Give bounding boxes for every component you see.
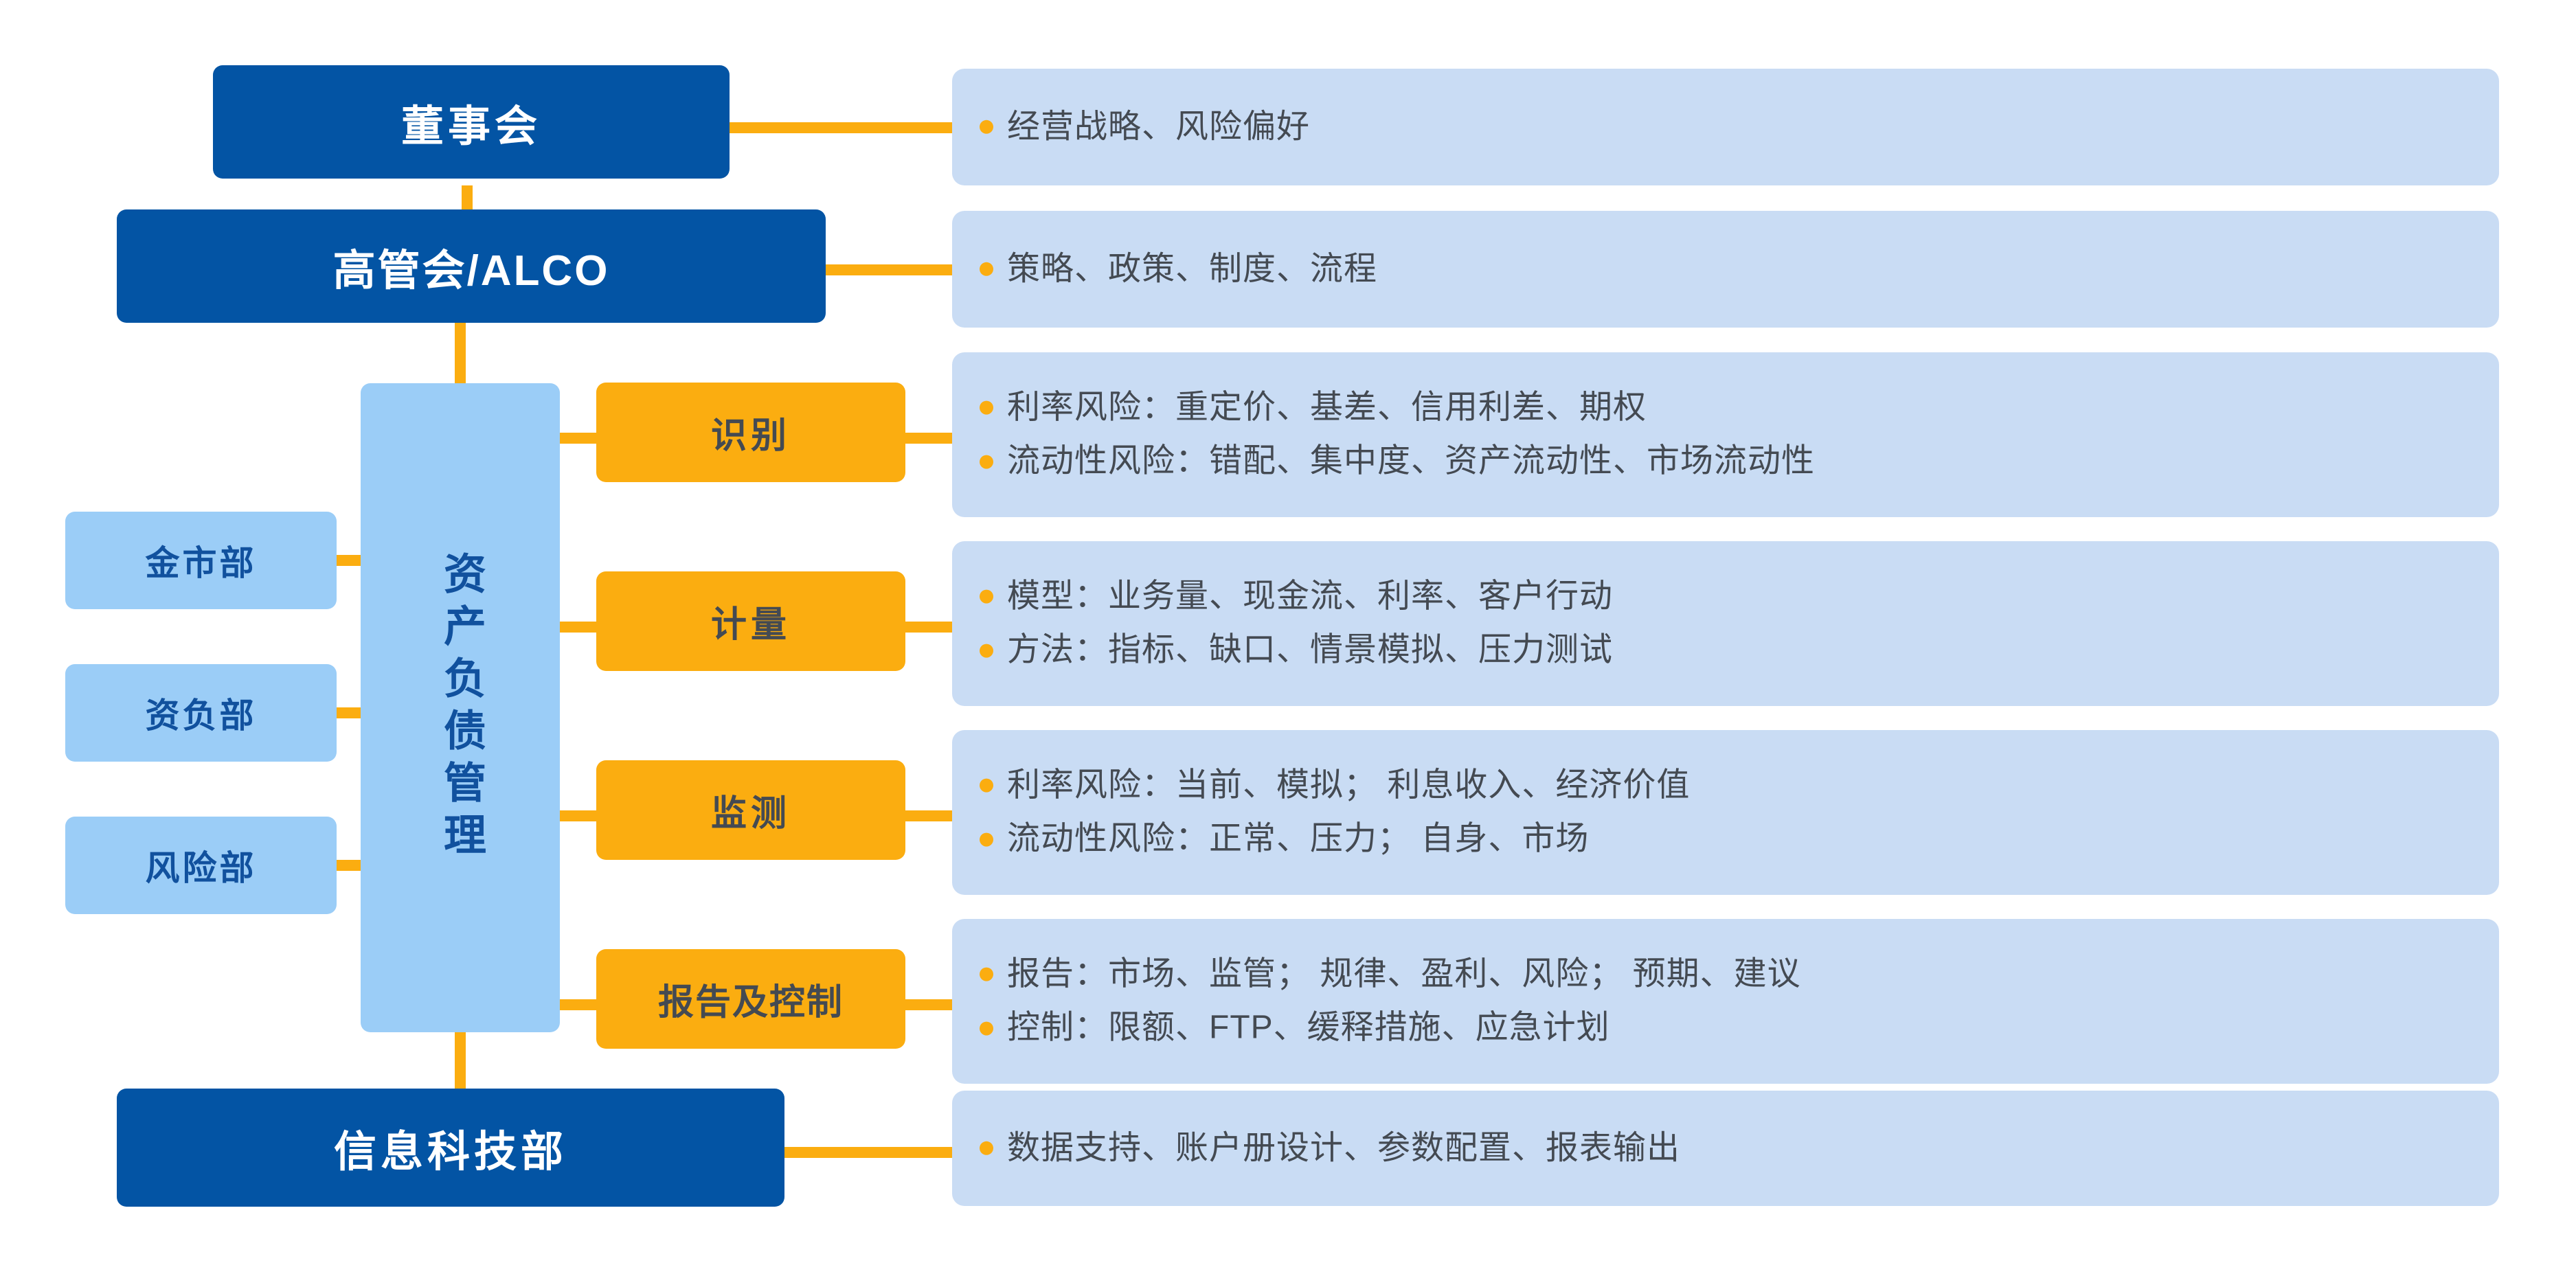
department-label-1: 资负部 <box>146 688 257 738</box>
bullet-text: 利率风险：当前、模拟； 利息收入、经济价值 <box>1007 764 1690 807</box>
connector-board-to-content <box>728 122 955 133</box>
connector-alco-to-center <box>455 323 466 391</box>
bullet-text: 方法：指标、缺口、情景模拟、压力测试 <box>1007 629 1613 672</box>
bullet-dot-icon <box>980 779 993 793</box>
bullet-item: 流动性风险：错配、集中度、资产流动性、市场流动性 <box>980 440 2483 483</box>
alm-center-box[interactable]: 资产负债管理 <box>361 383 560 1032</box>
bullet-dot-icon <box>980 262 993 276</box>
bullet-item: 数据支持、账户册设计、参数配置、报表输出 <box>980 1127 2483 1170</box>
department-box-1[interactable]: 资负部 <box>65 664 337 762</box>
bullet-text: 利率风险：重定价、基差、信用利差、期权 <box>1007 387 1647 429</box>
department-box-0[interactable]: 金市部 <box>65 512 337 609</box>
bullet-dot-icon <box>980 644 993 657</box>
content-box-monitor: 利率风险：当前、模拟； 利息收入、经济价值 流动性风险：正常、压力； 自身、市场 <box>952 730 2499 895</box>
bullet-dot-icon <box>980 832 993 846</box>
bullet-list-alco: 策略、政策、制度、流程 <box>980 248 2483 291</box>
department-label-2: 风险部 <box>146 841 257 890</box>
bullet-dot-icon <box>980 1141 993 1155</box>
it-department-label: 信息科技部 <box>334 1117 567 1179</box>
alm-center-label: 资产负债管理 <box>439 551 482 865</box>
connector-stage-1-to-content <box>901 622 956 633</box>
bullet-list-report-control: 报告：市场、监管； 规律、盈利、风险； 预期、建议 控制：限额、FTP、缓释措施… <box>980 953 2483 1050</box>
content-box-report-control: 报告：市场、监管； 规律、盈利、风险； 预期、建议 控制：限额、FTP、缓释措施… <box>952 919 2499 1084</box>
bullet-text: 数据支持、账户册设计、参数配置、报表输出 <box>1007 1127 1680 1170</box>
bullet-list-board: 经营战略、风险偏好 <box>980 106 2483 148</box>
bullet-item: 控制：限额、FTP、缓释措施、应急计划 <box>980 1007 2483 1049</box>
bullet-text: 经营战略、风险偏好 <box>1007 106 1310 148</box>
stage-label-2: 监测 <box>711 784 791 836</box>
stage-label-3: 报告及控制 <box>658 973 844 1025</box>
bullet-item: 策略、政策、制度、流程 <box>980 248 2483 291</box>
department-box-2[interactable]: 风险部 <box>65 817 337 914</box>
bullet-item: 流动性风险：正常、压力； 自身、市场 <box>980 818 2483 861</box>
bullet-dot-icon <box>980 590 993 604</box>
bullet-dot-icon <box>980 455 993 468</box>
bullet-text: 策略、政策、制度、流程 <box>1007 248 1377 291</box>
bullet-item: 方法：指标、缺口、情景模拟、压力测试 <box>980 629 2483 672</box>
alco-label: 高管会/ALCO <box>333 236 610 297</box>
content-box-alco: 策略、政策、制度、流程 <box>952 211 2499 328</box>
connector-stage-2-to-content <box>901 810 956 821</box>
bullet-text: 模型：业务量、现金流、利率、客户行动 <box>1007 576 1613 618</box>
board-box[interactable]: 董事会 <box>213 65 730 179</box>
connector-stage-3-to-content <box>901 999 956 1010</box>
diagram-canvas: 董事会 高管会/ALCO 信息科技部 资产负债管理 金市部 资负部 风险部 识别… <box>0 0 2576 1263</box>
bullet-dot-icon <box>980 120 993 134</box>
bullet-item: 报告：市场、监管； 规律、盈利、风险； 预期、建议 <box>980 953 2483 996</box>
bullet-text: 流动性风险：正常、压力； 自身、市场 <box>1007 818 1589 861</box>
bullet-dot-icon <box>980 968 993 981</box>
bullet-text: 报告：市场、监管； 规律、盈利、风险； 预期、建议 <box>1007 953 1801 996</box>
connector-alco-to-content <box>824 264 955 275</box>
board-label: 董事会 <box>401 91 541 153</box>
bullet-item: 利率风险：当前、模拟； 利息收入、经济价值 <box>980 764 2483 807</box>
stage-box-2[interactable]: 监测 <box>596 760 905 860</box>
bullet-item: 利率风险：重定价、基差、信用利差、期权 <box>980 387 2483 429</box>
content-box-it: 数据支持、账户册设计、参数配置、报表输出 <box>952 1091 2499 1206</box>
connector-stage-0-to-content <box>901 433 956 444</box>
bullet-list-measure: 模型：业务量、现金流、利率、客户行动 方法：指标、缺口、情景模拟、压力测试 <box>980 576 2483 672</box>
bullet-item: 经营战略、风险偏好 <box>980 106 2483 148</box>
content-box-identify: 利率风险：重定价、基差、信用利差、期权 流动性风险：错配、集中度、资产流动性、市… <box>952 352 2499 517</box>
bullet-text: 控制：限额、FTP、缓释措施、应急计划 <box>1007 1007 1610 1049</box>
stage-box-0[interactable]: 识别 <box>596 383 905 482</box>
stage-label-0: 识别 <box>711 407 791 458</box>
stage-label-1: 计量 <box>711 595 791 647</box>
bullet-list-monitor: 利率风险：当前、模拟； 利息收入、经济价值 流动性风险：正常、压力； 自身、市场 <box>980 764 2483 861</box>
bullet-dot-icon <box>980 1021 993 1035</box>
bullet-list-it: 数据支持、账户册设计、参数配置、报表输出 <box>980 1127 2483 1170</box>
content-box-board: 经营战略、风险偏好 <box>952 69 2499 185</box>
connector-it-to-content <box>783 1147 955 1158</box>
bullet-dot-icon <box>980 401 993 415</box>
alco-box[interactable]: 高管会/ALCO <box>117 209 826 323</box>
bullet-text: 流动性风险：错配、集中度、资产流动性、市场流动性 <box>1007 440 1815 483</box>
stage-box-3[interactable]: 报告及控制 <box>596 949 905 1049</box>
connector-center-to-it <box>455 1027 466 1095</box>
bullet-item: 模型：业务量、现金流、利率、客户行动 <box>980 576 2483 618</box>
bullet-list-identify: 利率风险：重定价、基差、信用利差、期权 流动性风险：错配、集中度、资产流动性、市… <box>980 387 2483 483</box>
department-label-0: 金市部 <box>146 536 257 585</box>
it-department-box[interactable]: 信息科技部 <box>117 1089 784 1207</box>
content-box-measure: 模型：业务量、现金流、利率、客户行动 方法：指标、缺口、情景模拟、压力测试 <box>952 541 2499 706</box>
stage-box-1[interactable]: 计量 <box>596 571 905 671</box>
